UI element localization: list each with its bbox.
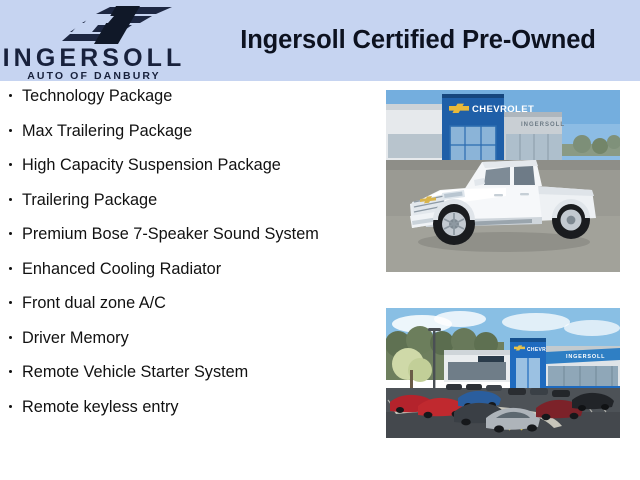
- list-item: Remote keyless entry: [0, 397, 372, 417]
- list-item: High Capacity Suspension Package: [0, 155, 372, 175]
- bullet-icon: [9, 198, 12, 201]
- dealer-logo-wordmark: INGERSOLL: [0, 45, 188, 71]
- list-item: Trailering Package: [0, 190, 372, 210]
- list-item: Technology Package: [0, 86, 372, 106]
- list-item: Premium Bose 7-Speaker Sound System: [0, 224, 372, 244]
- list-item-label: Remote Vehicle Starter System: [22, 363, 248, 381]
- list-item-label: Enhanced Cooling Radiator: [22, 260, 221, 278]
- list-item-label: Premium Bose 7-Speaker Sound System: [22, 225, 319, 243]
- list-item: Front dual zone A/C: [0, 293, 372, 313]
- bullet-icon: [9, 94, 12, 97]
- list-item-label: Front dual zone A/C: [22, 294, 166, 312]
- vehicle-photo: CHEVROLET INGERSOLL: [386, 90, 620, 272]
- list-item: Max Trailering Package: [0, 121, 372, 141]
- bullet-icon: [9, 163, 12, 166]
- bullet-icon: [9, 370, 12, 373]
- bullet-icon: [9, 232, 12, 235]
- bullet-icon: [9, 129, 12, 132]
- dealer-logo: INGERSOLL AUTO OF DANBURY: [0, 2, 188, 80]
- list-item-label: Remote keyless entry: [22, 398, 179, 416]
- dealership-photo: CHEVROLET INGERSOLL: [386, 308, 620, 438]
- list-item-label: Technology Package: [22, 87, 172, 105]
- bullet-icon: [9, 336, 12, 339]
- page-title: Ingersoll Certified Pre-Owned: [196, 0, 640, 81]
- list-item: Driver Memory: [0, 328, 372, 348]
- ingersoll-winged-emblem-icon: [44, 5, 176, 45]
- svg-text:INGERSOLL: INGERSOLL: [521, 122, 565, 128]
- svg-text:INGERSOLL: INGERSOLL: [566, 354, 605, 360]
- bullet-icon: [9, 267, 12, 270]
- list-item-label: Max Trailering Package: [22, 122, 192, 140]
- list-item: Remote Vehicle Starter System: [0, 362, 372, 382]
- list-item: Enhanced Cooling Radiator: [0, 259, 372, 279]
- page-header: INGERSOLL AUTO OF DANBURY Ingersoll Cert…: [0, 0, 640, 81]
- list-item-label: Trailering Package: [22, 191, 157, 209]
- dealer-logo-tagline: AUTO OF DANBURY: [0, 70, 188, 81]
- svg-text:CHEVROLET: CHEVROLET: [472, 104, 534, 115]
- feature-list: Technology Package Max Trailering Packag…: [0, 86, 372, 431]
- bullet-icon: [9, 405, 12, 408]
- list-item-label: High Capacity Suspension Package: [22, 156, 281, 174]
- bullet-icon: [9, 301, 12, 304]
- list-item-label: Driver Memory: [22, 329, 129, 347]
